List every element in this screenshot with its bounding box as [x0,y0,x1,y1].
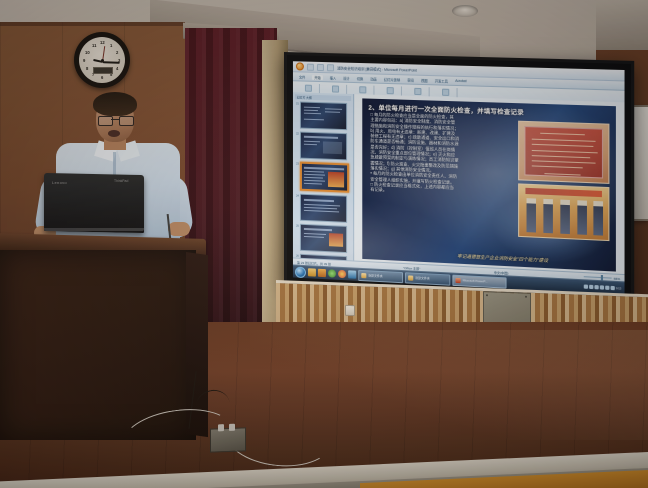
clock-numeral: 12 [100,40,105,45]
clock-numeral: 1 [110,43,112,48]
thumbpane-header: 幻灯片 大纲 [295,94,351,101]
slide-body: □ 每月的防火检查应当是全面的防火检查，其 主要内容包括：a) 消防安全制度、消… [370,112,496,198]
word-icon[interactable] [348,270,356,278]
system-tray[interactable]: 9:15 [584,284,623,290]
tab-slideshow[interactable]: 幻灯片放映 [384,76,400,82]
bullets-icon[interactable] [386,87,393,94]
new-slide-icon[interactable] [331,85,338,92]
powerpoint-body: 幻灯片 大纲 21 22 [293,92,625,282]
thumbpane-header-label: 幻灯片 大纲 [297,95,312,99]
taskbar-clock[interactable]: 9:15 [616,287,621,290]
tab-transitions[interactable]: 切换 [357,76,363,81]
taskbar-window-label: 新建文件夹 [368,273,382,278]
network-icon[interactable] [589,285,593,289]
folder-icon [361,272,366,277]
tab-home[interactable]: 开始 [312,74,322,79]
laptop-hinge [44,228,144,231]
redo-icon[interactable] [327,64,334,71]
media-player-icon[interactable] [318,269,326,277]
wall-trim [0,22,185,26]
slide-thumbnail[interactable] [300,194,347,223]
show-hidden-icons-icon[interactable] [584,284,588,288]
presenter-mouth [108,130,120,137]
floor-outlet-box [210,427,246,452]
ie-icon[interactable] [328,269,336,277]
window-title: 消防安全知识培训 [兼容模式] - Microsoft PowerPoint [337,65,417,72]
find-icon[interactable] [442,89,449,96]
slide-thumbnail[interactable] [300,224,347,253]
clock-face: 12 1 2 3 4 5 6 7 8 9 10 11 [79,37,125,83]
slide-images [518,121,609,241]
tab-design[interactable]: 设计 [343,75,349,80]
thumbnail-row[interactable]: 25 [295,224,351,254]
ceiling-light-icon [452,5,478,17]
lecture-hall-photo: 12 1 2 3 4 5 6 7 8 9 10 11 [0,0,648,488]
clock-numeral: 8 [86,66,88,71]
tab-file[interactable]: 文件 [299,74,305,79]
tab-view[interactable]: 视图 [421,77,428,82]
save-icon[interactable] [307,63,314,70]
projection-screen: 消防安全知识培训 [兼容模式] - Microsoft PowerPoint 文… [284,52,634,305]
clock-center-pin [101,59,104,62]
presenter-right-hand [168,222,190,236]
thumbnail-row[interactable]: 23 [295,161,351,192]
tab-animations[interactable]: 动画 [370,76,376,81]
tab-developer[interactable]: 开发工具 [435,78,448,83]
slide-stage[interactable]: 2、单位每月进行一次全面防火检查，并填写检查记录 □ 每月的防火检查应当是全面的… [354,94,624,282]
thumbnail-row[interactable]: 21 [295,101,351,130]
undo-icon[interactable] [317,63,324,70]
clock-date-window [93,67,113,74]
clock-numeral: 2 [116,50,118,55]
presenter-hair [93,92,137,116]
zoom-slider[interactable] [584,276,612,278]
slide-thumbnail-pane[interactable]: 幻灯片 大纲 21 22 [293,92,354,268]
start-orb-icon[interactable] [295,266,306,278]
taskbar-window-folder-2[interactable]: 新建文件夹 [405,272,450,286]
thumbnail-number: 24 [295,193,299,197]
current-slide[interactable]: 2、单位每月进行一次全面防火检查，并填写检查记录 □ 每月的防火检查应当是全面的… [362,98,616,271]
chrome-icon[interactable] [338,270,346,278]
thumbnail-number: 21 [295,101,299,105]
office-orb-icon[interactable] [296,62,304,70]
fire-safety-notice-board-image [518,121,609,184]
tab-acrobat[interactable]: Acrobat [455,79,466,83]
explorer-icon[interactable] [308,268,316,276]
folder-icon [408,275,413,280]
thumbnail-number: 25 [295,224,299,228]
thumbnail-row[interactable]: 22 [295,131,351,160]
paste-icon[interactable] [304,85,311,92]
laptop-model-label: ThinkPad [114,179,128,183]
taskbar-window-label: Microsoft PowerP... [463,278,488,283]
tab-review[interactable]: 审阅 [407,77,414,82]
taskbar-window-label: 新建文件夹 [415,276,429,281]
thumbnail-number: 22 [295,131,299,135]
glasses-icon [98,116,132,124]
powerpoint-icon [455,277,460,282]
clock-numeral: 4 [116,66,118,71]
shapes-icon[interactable] [414,88,421,95]
taskbar-window-folder-1[interactable]: 新建文件夹 [358,269,403,282]
slide-thumbnail[interactable] [300,101,347,130]
taskbar-window-powerpoint[interactable]: Microsoft PowerP... [452,274,506,288]
volume-icon[interactable] [594,285,598,289]
powerpoint-window[interactable]: 消防安全知识培训 [兼容模式] - Microsoft PowerPoint 文… [293,61,625,295]
thumbnail-number: 23 [295,161,299,165]
light-switch[interactable] [345,305,355,316]
slide-thumbnail[interactable] [300,132,347,161]
input-method-icon[interactable] [600,285,604,289]
font-icon[interactable] [359,86,366,93]
laptop-brand-label: Lenovo [52,180,67,185]
wall-clock: 12 1 2 3 4 5 6 7 8 9 10 11 [74,32,130,88]
thumbnail-row[interactable]: 24 [295,193,351,223]
projected-image: 消防安全知识培训 [兼容模式] - Microsoft PowerPoint 文… [293,61,625,295]
clock-minute-hand [103,61,120,63]
action-center-icon[interactable] [610,286,614,290]
clock-numeral: 6 [101,75,103,80]
tab-insert[interactable]: 插入 [330,75,336,80]
slide-thumbnail-selected[interactable] [300,162,349,193]
plug-icon [229,424,235,431]
fire-equipment-photo [518,183,609,241]
antivirus-icon[interactable] [605,286,609,290]
clock-numeral: 9 [83,58,85,63]
clock-numeral: 11 [92,43,96,48]
plug-icon [218,424,224,431]
clock-numeral: 10 [85,50,90,55]
